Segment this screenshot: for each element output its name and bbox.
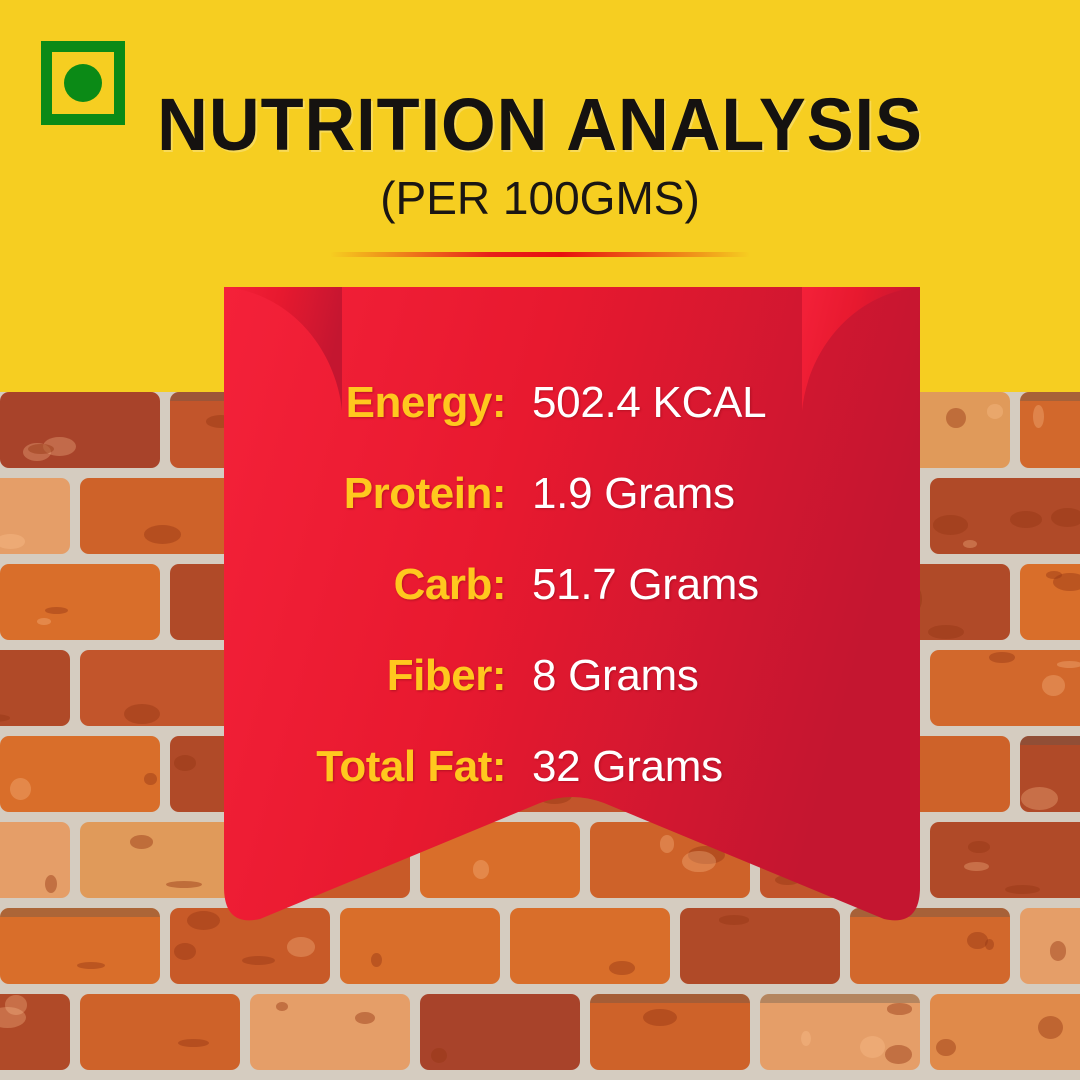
nutrient-value: 8 Grams	[532, 651, 862, 701]
brick-speck	[1051, 508, 1080, 527]
brick	[80, 822, 240, 898]
nutrition-infographic: NUTRITION ANALYSIS (PER 100GMS)	[0, 0, 1080, 1080]
brick-speck	[431, 1048, 447, 1063]
brick-speck	[0, 714, 10, 721]
brick	[80, 650, 240, 726]
brick-speck	[0, 534, 25, 549]
brick-speck	[989, 652, 1015, 663]
brick-speck	[166, 881, 202, 888]
brick-speck	[124, 704, 160, 724]
brick-speck	[801, 1031, 811, 1046]
brick-speck	[5, 995, 27, 1014]
brick-speck	[967, 932, 988, 949]
brick-shadow	[1020, 736, 1080, 745]
brick-speck	[28, 444, 53, 454]
brick-speck	[10, 778, 31, 800]
brick-speck	[860, 1036, 886, 1058]
brick-shadow	[0, 908, 160, 917]
nutrient-value: 51.7 Grams	[532, 560, 862, 610]
brick-speck	[1005, 885, 1040, 894]
brick	[0, 994, 70, 1070]
brick-speck	[287, 937, 315, 956]
nutrient-label: Energy:	[282, 378, 532, 428]
brick	[760, 994, 920, 1070]
list-item: Fiber: 8 Grams	[224, 651, 920, 742]
brick	[1020, 392, 1080, 468]
brick-shadow	[590, 994, 750, 1003]
brick-speck	[187, 911, 220, 930]
nutrient-value: 502.4 KCAL	[532, 378, 862, 428]
brick	[0, 392, 160, 468]
brick	[0, 736, 160, 812]
brick-speck	[242, 956, 275, 965]
page-subtitle: (PER 100GMS)	[0, 175, 1080, 221]
brick	[0, 564, 160, 640]
brick-speck	[45, 607, 68, 614]
brick	[0, 478, 70, 554]
brick-speck	[1021, 787, 1058, 810]
brick-speck	[1033, 405, 1044, 428]
brick-speck	[276, 1002, 287, 1011]
brick	[80, 994, 240, 1070]
brick-speck	[130, 835, 154, 849]
brick	[1020, 736, 1080, 812]
brick-speck	[1050, 941, 1067, 960]
brick	[590, 994, 750, 1070]
brick-speck	[174, 943, 196, 960]
brick	[0, 822, 70, 898]
brick-speck	[1046, 571, 1062, 579]
nutrient-label: Protein:	[282, 469, 532, 519]
brick-speck	[355, 1012, 375, 1024]
brick-speck	[144, 525, 181, 544]
brick	[930, 994, 1080, 1070]
brick-speck	[45, 875, 57, 893]
brick	[80, 478, 240, 554]
brick-speck	[946, 408, 966, 428]
nutrient-label: Carb:	[282, 560, 532, 610]
brick	[1020, 564, 1080, 640]
brick	[930, 478, 1080, 554]
brick-speck	[77, 962, 105, 969]
brick-speck	[964, 862, 988, 871]
brick-speck	[178, 1039, 209, 1047]
nutrient-value: 32 Grams	[532, 742, 862, 792]
brick	[1020, 908, 1080, 984]
list-item: Protein: 1.9 Grams	[224, 469, 920, 560]
brick	[930, 650, 1080, 726]
brick-speck	[885, 1045, 912, 1064]
brick-speck	[928, 625, 964, 639]
brick-speck	[968, 841, 991, 853]
brick	[0, 650, 70, 726]
brick-speck	[987, 404, 1004, 419]
list-item: Carb: 51.7 Grams	[224, 560, 920, 651]
title-divider	[330, 252, 750, 257]
brick-speck	[144, 773, 156, 785]
brick-speck	[609, 961, 634, 975]
list-item: Energy: 502.4 KCAL	[224, 378, 920, 469]
brick-row	[0, 994, 1080, 1070]
brick-speck	[37, 618, 51, 625]
nutrient-label: Total Fat:	[282, 742, 532, 792]
brick-speck	[643, 1009, 678, 1027]
brick-speck	[936, 1039, 956, 1056]
brick-speck	[174, 755, 197, 771]
brick-speck	[933, 515, 968, 534]
nutrition-list: Energy: 502.4 KCAL Protein: 1.9 Grams Ca…	[224, 378, 920, 833]
brick	[420, 994, 580, 1070]
nutrient-label: Fiber:	[282, 651, 532, 701]
brick-speck	[1042, 675, 1065, 695]
brick-speck	[1010, 511, 1041, 528]
brick-shadow	[1020, 392, 1080, 401]
list-item: Total Fat: 32 Grams	[224, 742, 920, 833]
brick-speck	[887, 1003, 912, 1014]
brick	[0, 908, 160, 984]
brick-shadow	[760, 994, 920, 1003]
brick-speck	[371, 953, 382, 968]
brick	[930, 822, 1080, 898]
nutrient-value: 1.9 Grams	[532, 469, 862, 519]
brick-speck	[963, 540, 977, 548]
brick-speck	[1038, 1016, 1064, 1039]
page-title: NUTRITION ANALYSIS	[27, 88, 1053, 162]
brick-speck	[1057, 661, 1080, 668]
brick	[250, 994, 410, 1070]
